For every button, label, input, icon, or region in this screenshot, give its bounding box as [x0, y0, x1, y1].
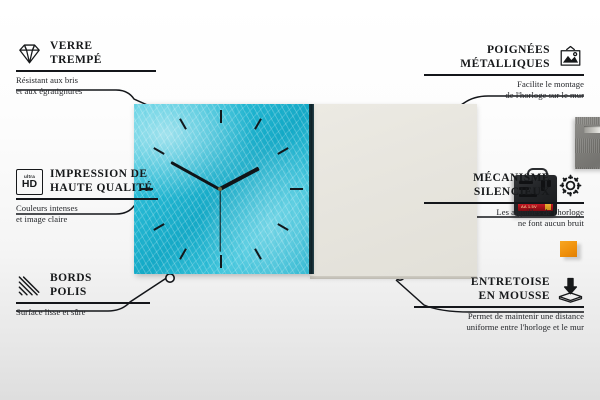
feature-rule — [16, 70, 156, 72]
feature-verre-trempe: VERRE TREMPÉ Résistant aux bris et aux é… — [16, 40, 176, 97]
feature-title: BORDS — [50, 272, 92, 286]
feature-desc-2: uniforme entre l'horloge et le mur — [414, 322, 584, 333]
feature-title: ENTRETOISE — [471, 276, 550, 290]
feature-rule — [16, 302, 150, 304]
ultra-hd-main-text: HD — [22, 179, 37, 190]
feature-desc-2: et aux égratignures — [16, 86, 176, 97]
feature-title: IMPRESSION DE — [50, 168, 153, 182]
feature-desc-1: Résistant aux bris — [16, 75, 176, 86]
diamond-icon — [16, 40, 43, 67]
feature-desc-2: de l'horloge sur le mur — [424, 90, 584, 101]
feature-impression-hd: ultra HD IMPRESSION DE HAUTE QUALITÉ Cou… — [16, 168, 186, 225]
clock-hour-hand — [219, 167, 260, 191]
feature-desc-1: Permet de maintenir une distance — [414, 311, 584, 322]
feature-desc-1: Surface lisse et sûre — [16, 307, 176, 318]
feature-desc-1: Les aiguilles de l'horloge — [424, 207, 584, 218]
feature-rule — [16, 198, 158, 200]
feature-poignees-metalliques: POIGNÉES MÉTALLIQUES Facilite le montage… — [424, 44, 584, 101]
feature-title-2: SILENCIEUX — [473, 186, 550, 200]
feature-title-2: POLIS — [50, 286, 92, 300]
feature-rule — [424, 202, 584, 204]
feature-rule — [424, 74, 584, 76]
hanger-slot — [584, 126, 600, 133]
clock-center-pin — [218, 187, 222, 191]
gear-icon — [557, 172, 584, 199]
feature-rule — [414, 306, 584, 308]
feature-desc-2: ne font aucun bruit — [424, 218, 584, 229]
feature-title: VERRE — [50, 40, 102, 54]
foam-spacer — [560, 241, 577, 257]
foam-spacer-arrow-icon — [557, 276, 584, 303]
glass-edge — [309, 104, 314, 274]
picture-frame-hanger-icon — [557, 44, 584, 71]
feature-title-2: MÉTALLIQUES — [460, 58, 550, 72]
feature-title-2: EN MOUSSE — [471, 290, 550, 304]
metal-hanger-plate — [575, 117, 600, 169]
feature-entretoise-mousse: ENTRETOISE EN MOUSSE Permet de maintenir… — [414, 276, 584, 333]
ultra-hd-icon: ultra HD — [16, 169, 43, 195]
infographic-canvas: AA 1.5V — [0, 0, 600, 400]
feature-title-2: HAUTE QUALITÉ — [50, 182, 153, 196]
feature-title: MÉCANISME — [473, 172, 550, 186]
feature-desc-2: et image claire — [16, 214, 186, 225]
clock-second-hand — [219, 190, 220, 252]
feature-title-2: TREMPÉ — [50, 54, 102, 68]
feature-title: POIGNÉES — [460, 44, 550, 58]
polished-edge-icon — [16, 272, 43, 299]
feature-desc-1: Facilite le montage — [424, 79, 584, 90]
feature-mecanisme-silencieux: MÉCANISME SILENCIEUX Les aiguilles de l'… — [424, 172, 584, 229]
feature-desc-1: Couleurs intenses — [16, 203, 186, 214]
feature-bords-polis: BORDS POLIS Surface lisse et sûre — [16, 272, 176, 318]
